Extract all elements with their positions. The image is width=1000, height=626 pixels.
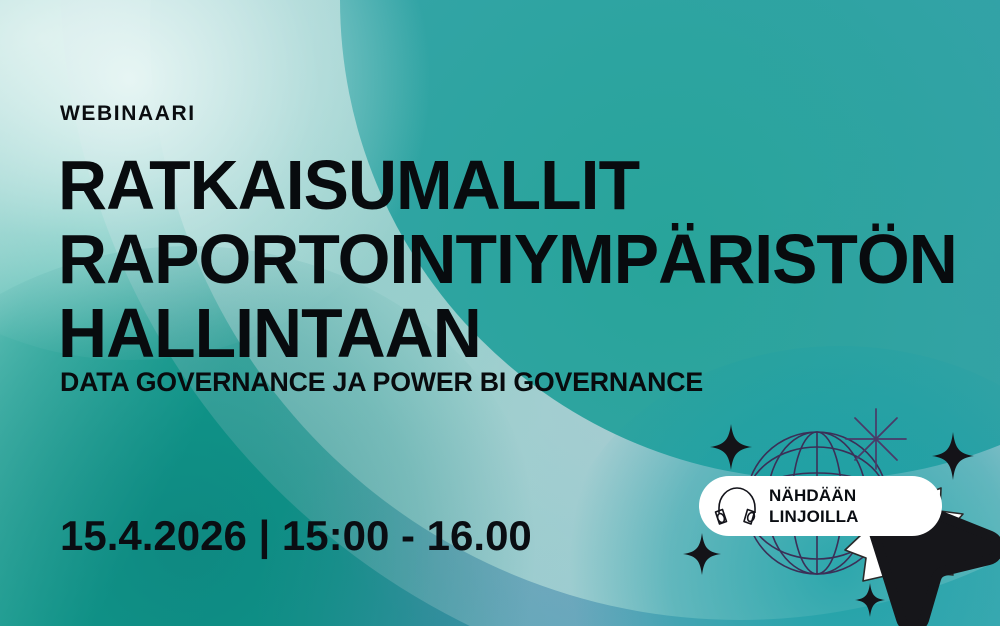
headline-line-1: RATKAISUMALLIT [58, 148, 957, 222]
page-title: RATKAISUMALLIT RAPORTOINTIYMPÄRISTÖN HAL… [58, 148, 957, 370]
event-datetime: 15.4.2026 | 15:00 - 16.00 [60, 512, 532, 560]
headline-line-2: RAPORTOINTIYMPÄRISTÖN [58, 222, 957, 296]
webinar-promo-poster: NÄHDÄÄN LINJOILLA WEBINAARI RATKAISUMALL… [0, 0, 1000, 626]
subheading: DATA GOVERNANCE JA POWER BI GOVERNANCE [60, 367, 703, 398]
eyebrow-label: WEBINAARI [60, 102, 196, 126]
headline-line-3: HALLINTAAN [58, 296, 957, 370]
poster-content: WEBINAARI RATKAISUMALLIT RAPORTOINTIYMPÄ… [0, 0, 1000, 626]
